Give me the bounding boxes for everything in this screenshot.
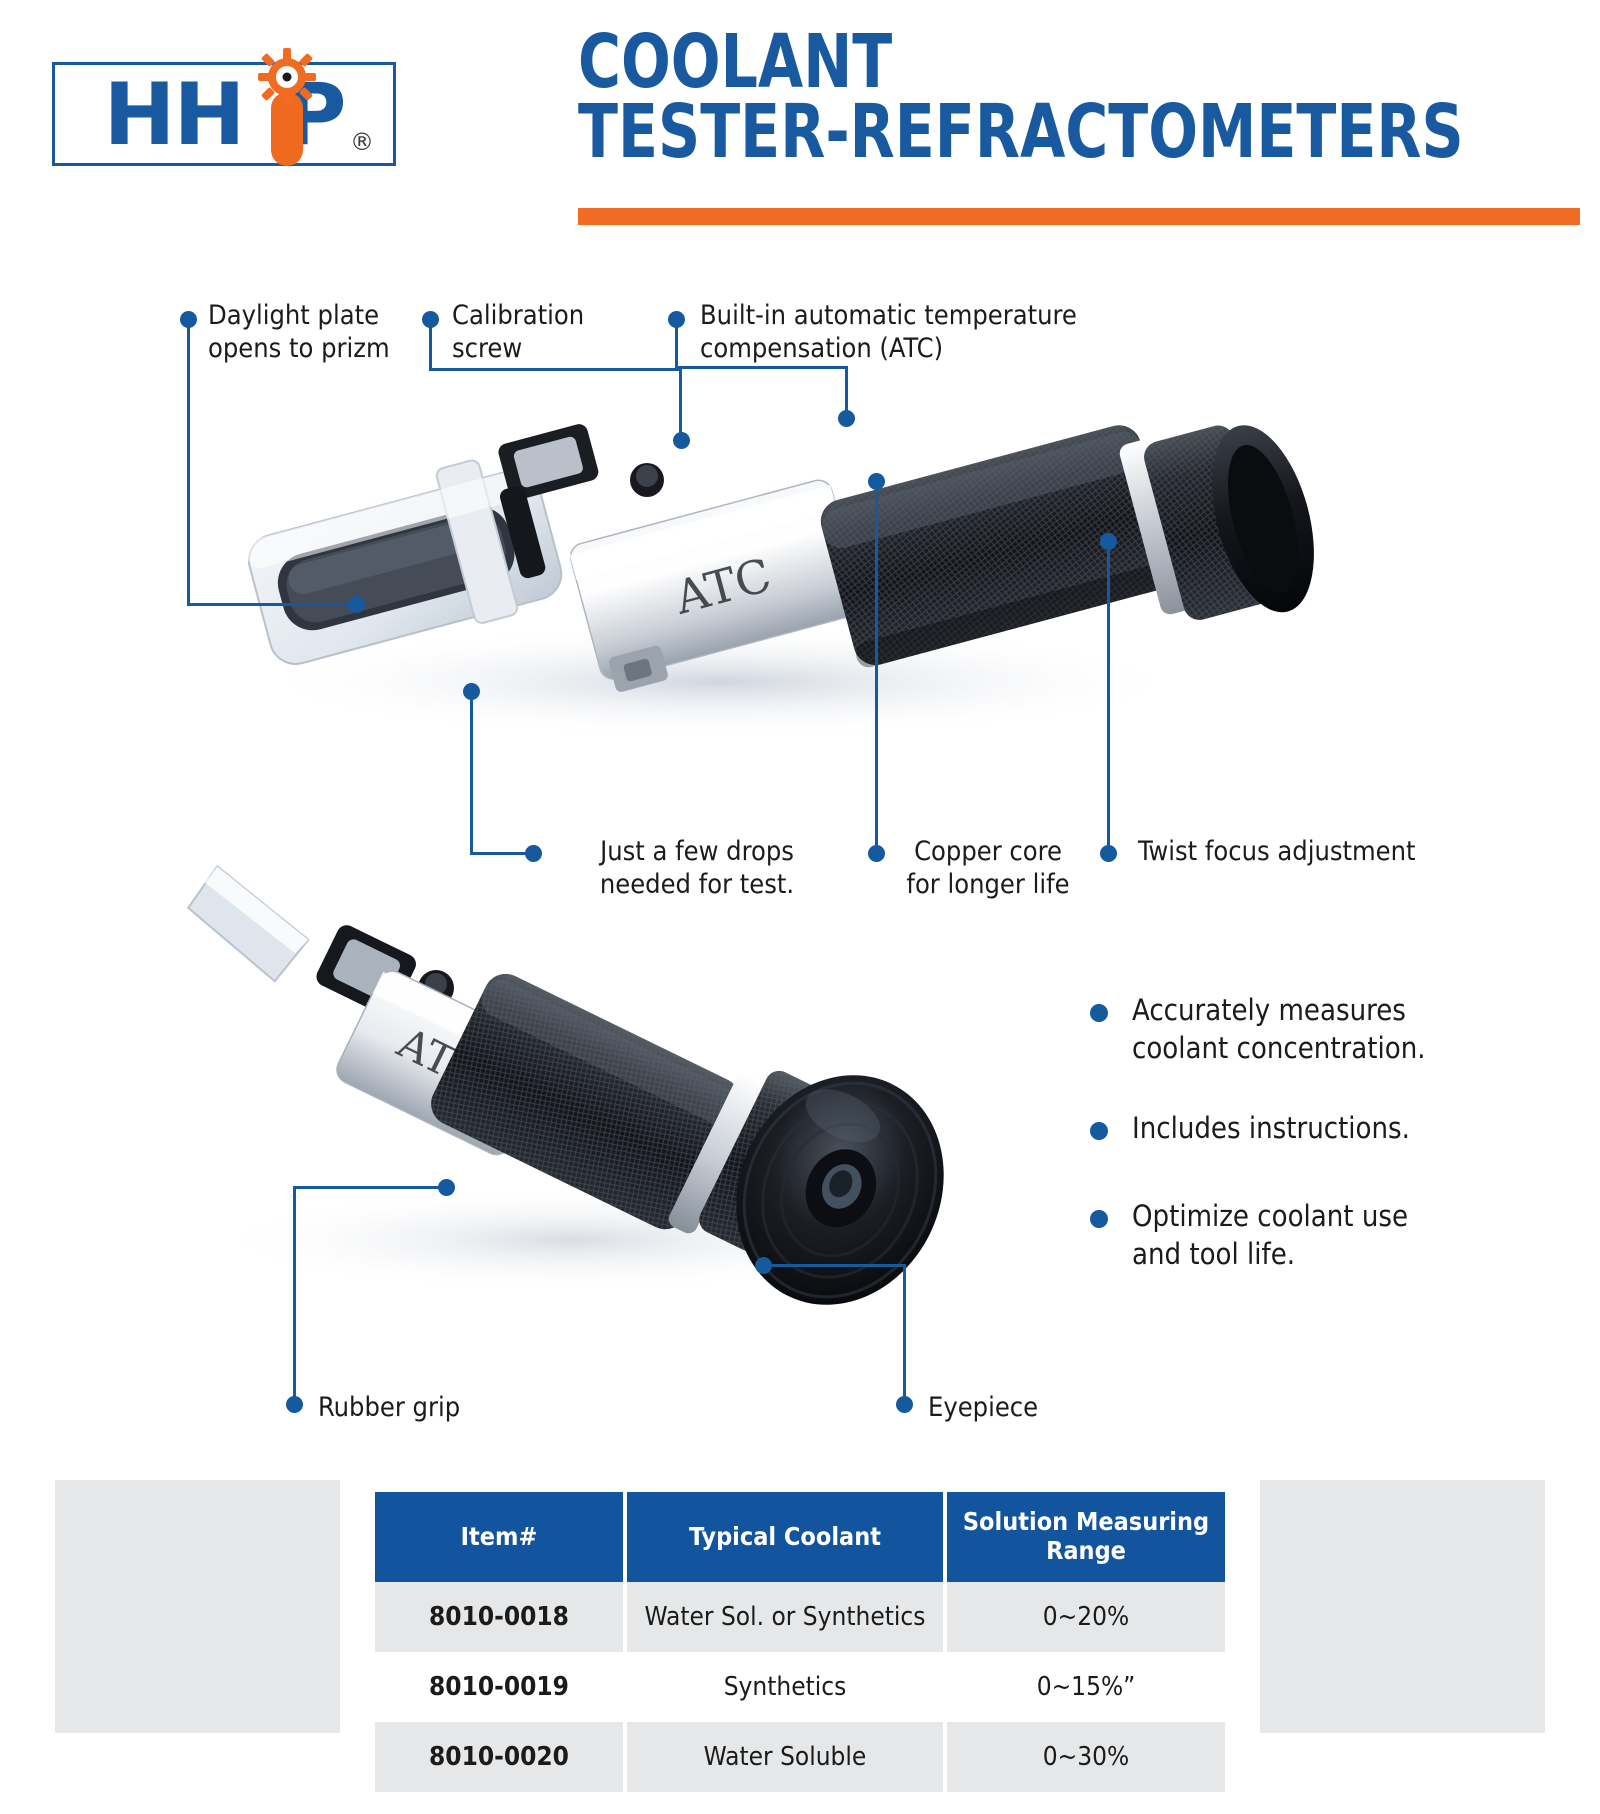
leader-drops-h <box>470 852 532 855</box>
leader-copper-v <box>875 480 878 852</box>
leader-eyepiece-h <box>762 1264 906 1267</box>
callout-endpoint-atc <box>838 410 855 427</box>
product-photo-top: ATC <box>160 330 1300 760</box>
title-line-1: COOLANT <box>578 28 1361 98</box>
logo-hh-letters: HH <box>104 72 244 158</box>
leader-atc-h <box>675 366 847 369</box>
page-title: COOLANT TESTER-REFRACTOMETERS <box>578 28 1468 167</box>
logo-wordmark: HH P <box>52 60 396 170</box>
table-row: 8010-0019 Synthetics 0~15%” <box>375 1652 1225 1722</box>
table-row: 8010-0018 Water Sol. or Synthetics 0~20% <box>375 1582 1225 1652</box>
cell-item: 8010-0019 <box>375 1652 625 1722</box>
leader-calibration-v1 <box>429 326 432 370</box>
feature-instructions: Includes instructions. <box>1132 1110 1462 1148</box>
title-accent-bar <box>578 208 1580 225</box>
title-line-2: TESTER-REFRACTOMETERS <box>578 98 1361 168</box>
table-side-block-left <box>55 1480 340 1733</box>
callout-endpoint-eyepiece <box>755 1257 772 1274</box>
callout-endpoint-daylight <box>348 596 365 613</box>
cell-item: 8010-0020 <box>375 1722 625 1792</box>
table-header-coolant: Typical Coolant <box>625 1492 945 1582</box>
feature-dot-accuracy <box>1090 1004 1108 1022</box>
leader-daylight-h <box>187 603 357 606</box>
leader-calibration-v2 <box>679 368 682 440</box>
callout-endpoint-rubber-grip <box>438 1179 455 1196</box>
spec-table: Item# Typical Coolant Solution Measuring… <box>375 1492 1225 1792</box>
leader-calibration-h <box>429 368 681 371</box>
table-header-range: Solution Measuring Range <box>945 1492 1225 1582</box>
callout-endpoint-twist-focus <box>1100 533 1117 550</box>
callout-twist-focus: Twist focus adjustment <box>1138 836 1458 869</box>
leader-rubber-h <box>293 1186 445 1189</box>
cell-coolant: Water Soluble <box>625 1722 945 1792</box>
page-root: HH P ® COOLANT TESTER-REFRACTOMETERS <box>0 0 1600 1814</box>
cell-range: 0~30% <box>945 1722 1225 1792</box>
callout-calibration-screw: Calibration screw <box>452 300 612 366</box>
feature-dot-optimize <box>1090 1210 1108 1228</box>
leader-atc-v1 <box>675 326 678 368</box>
callout-rubber-grip: Rubber grip <box>318 1392 538 1425</box>
callout-endpoint-calibration <box>673 432 690 449</box>
feature-dot-instructions <box>1090 1122 1108 1140</box>
callout-eyepiece: Eyepiece <box>928 1392 1128 1425</box>
cell-coolant: Water Sol. or Synthetics <box>625 1582 945 1652</box>
table-header-item: Item# <box>375 1492 625 1582</box>
feature-accuracy: Accurately measures coolant concentratio… <box>1132 992 1462 1067</box>
callout-atc: Built-in automatic temperature compensat… <box>700 300 1080 366</box>
gear-icon <box>258 48 316 106</box>
feature-optimize: Optimize coolant use and tool life. <box>1132 1198 1462 1273</box>
callout-daylight-plate: Daylight plate opens to prizm <box>208 300 408 366</box>
leader-daylight-v <box>187 326 190 606</box>
table-row: 8010-0020 Water Soluble 0~30% <box>375 1722 1225 1792</box>
leader-twist-v <box>1107 540 1110 852</box>
table-header-row: Item# Typical Coolant Solution Measuring… <box>375 1492 1225 1582</box>
leader-drops-v <box>470 690 473 854</box>
cell-range: 0~20% <box>945 1582 1225 1652</box>
callout-endpoint-copper-core <box>868 473 885 490</box>
registered-mark: ® <box>350 128 374 156</box>
table-side-block-right <box>1260 1480 1545 1733</box>
cell-coolant: Synthetics <box>625 1652 945 1722</box>
cell-item: 8010-0018 <box>375 1582 625 1652</box>
spec-table-zone: Item# Typical Coolant Solution Measuring… <box>55 1480 1545 1750</box>
leader-eyepiece-v <box>903 1264 906 1404</box>
callout-endpoint-few-drops <box>463 683 480 700</box>
cell-range: 0~15%” <box>945 1652 1225 1722</box>
product-photo-bottom: ATC <box>150 890 980 1310</box>
leader-rubber-v <box>293 1186 296 1404</box>
